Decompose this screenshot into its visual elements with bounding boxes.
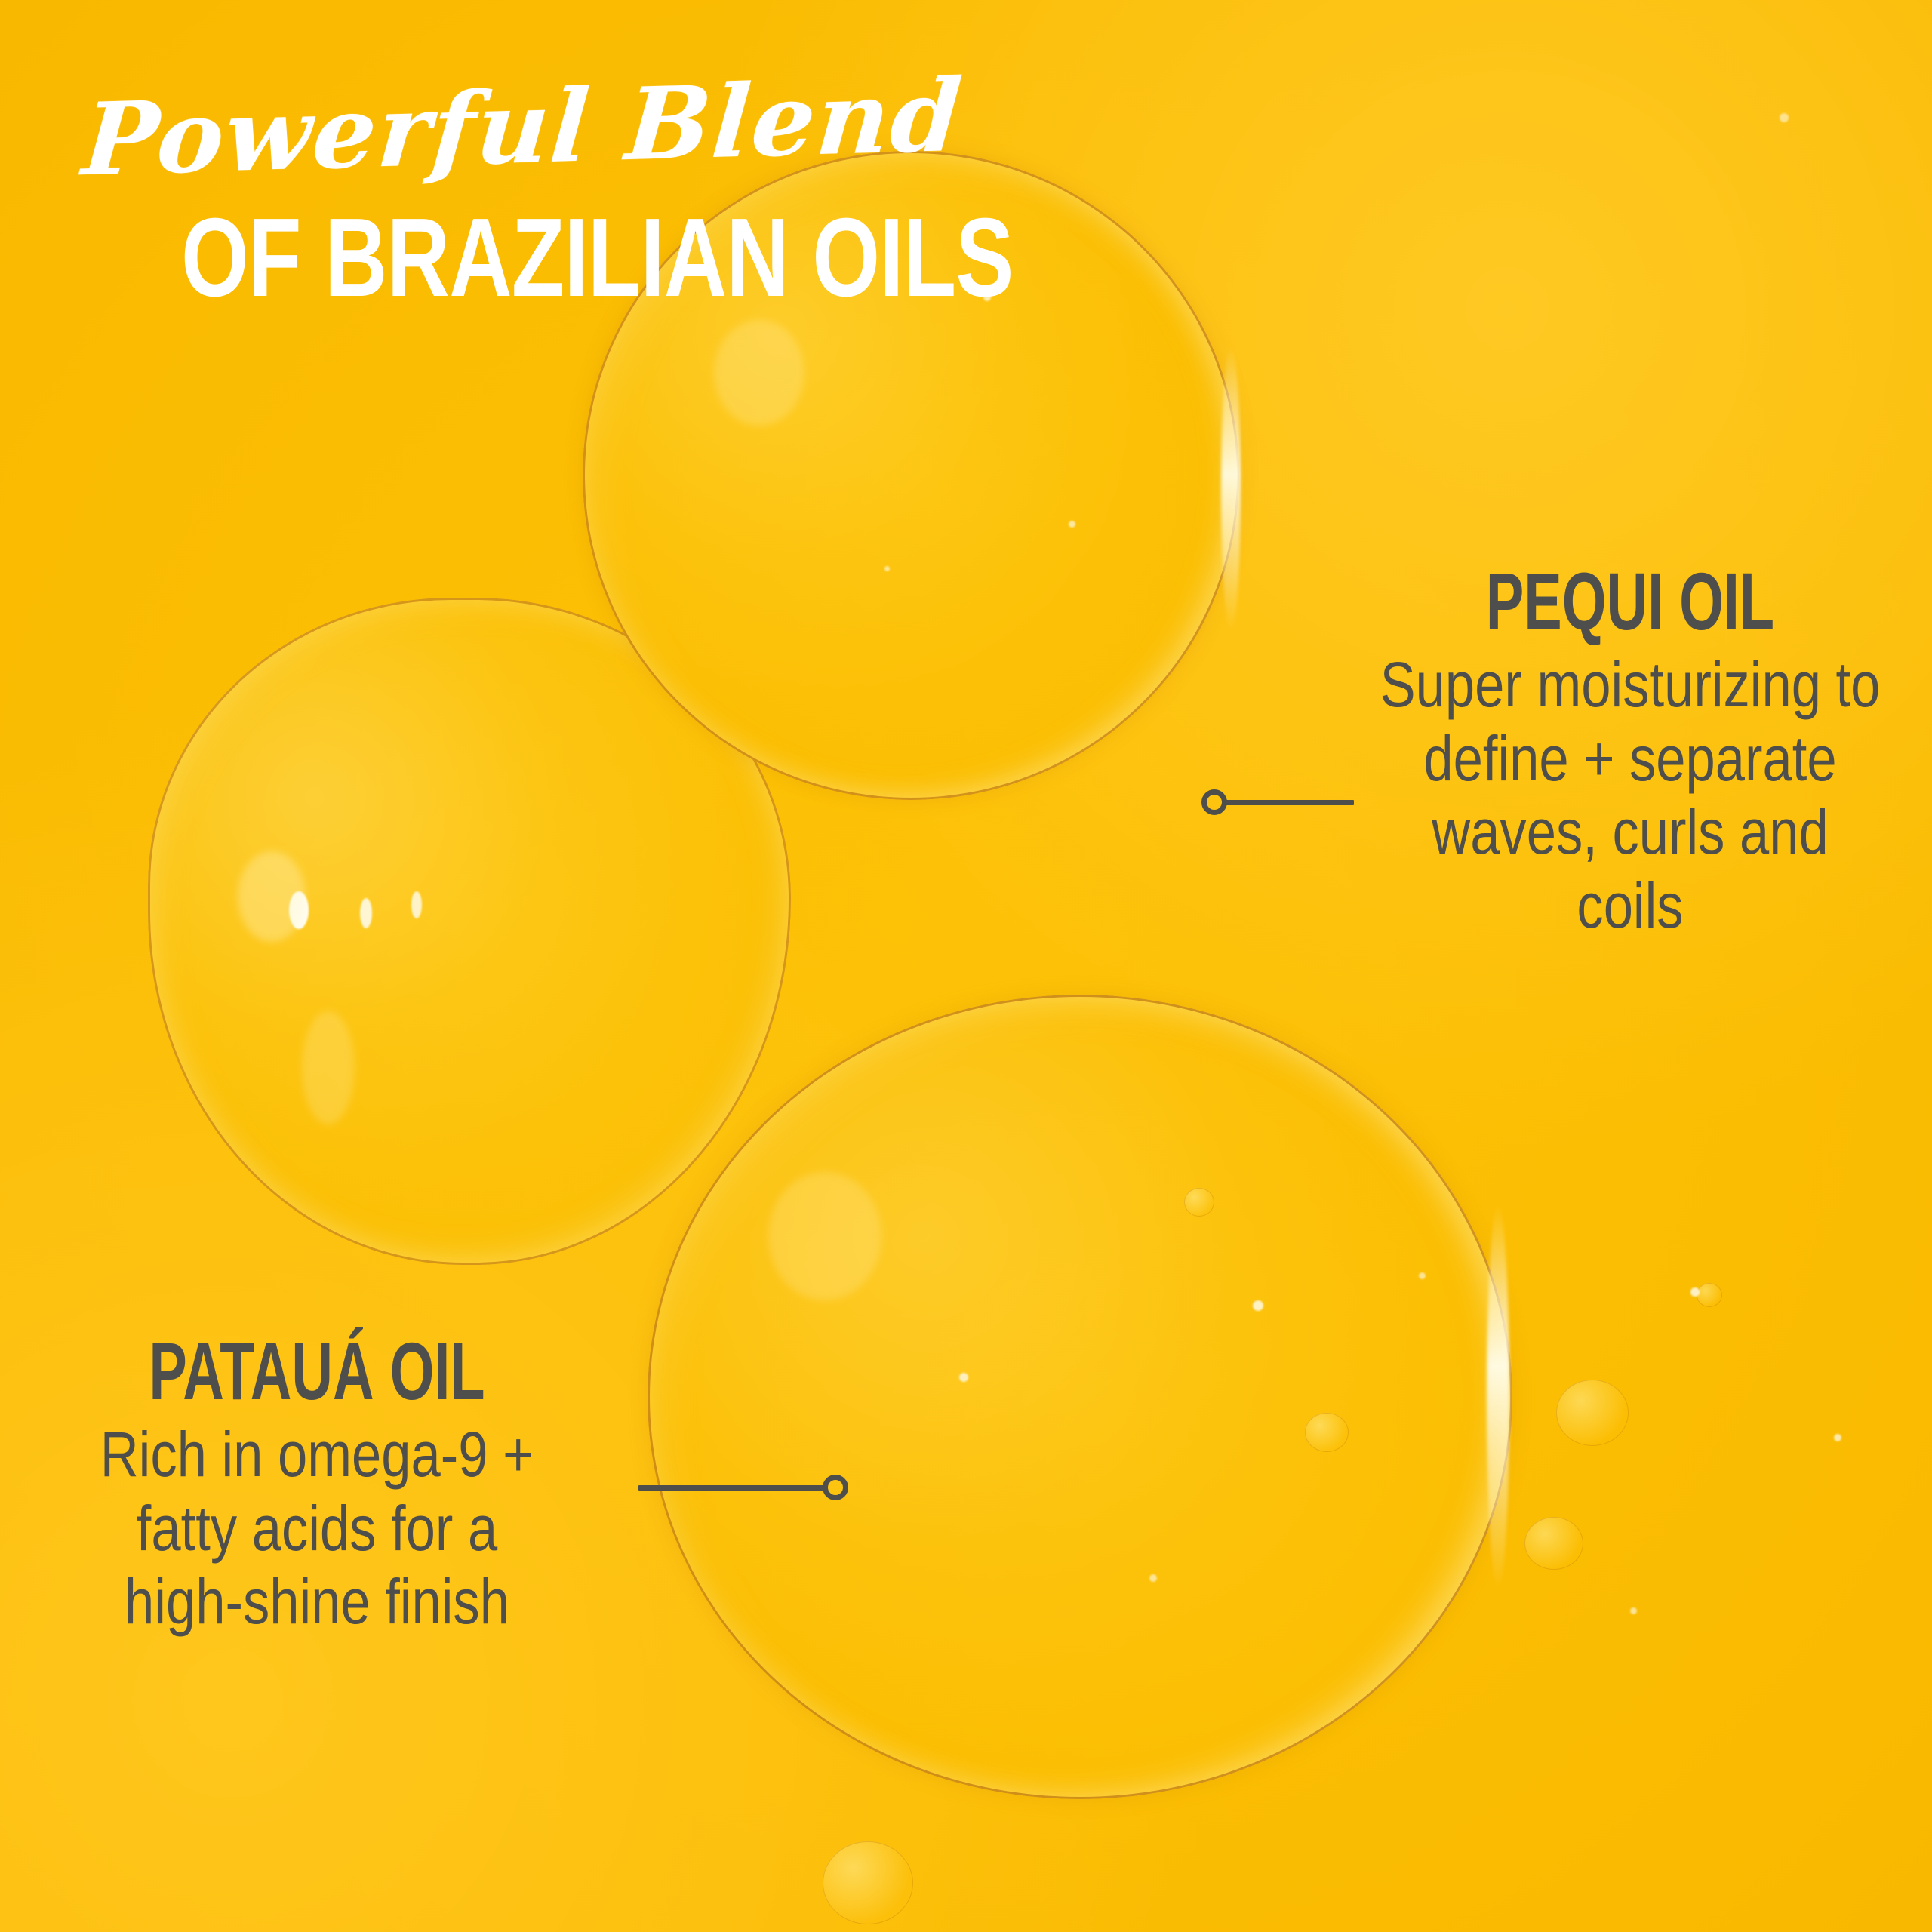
highlight-speck — [360, 898, 372, 928]
highlight-speck — [1419, 1272, 1426, 1279]
highlight-speck — [1780, 113, 1789, 122]
micro-droplet — [1524, 1517, 1583, 1570]
callout-pequi: PEQUI OIL Super moisturizing to define +… — [1328, 558, 1932, 943]
highlight-glow — [714, 320, 804, 426]
leader-line-pequi — [1201, 789, 1352, 817]
highlight-speck — [1253, 1300, 1263, 1311]
headline-script-line: Powerful Blend — [79, 57, 968, 198]
highlight-speck — [884, 566, 890, 571]
highlight-speck — [411, 891, 422, 918]
highlight-glow — [768, 1172, 881, 1300]
leader-line-pataua — [638, 1475, 848, 1502]
headline-main-line: OF BRAZILIAN OILS — [181, 202, 1014, 314]
highlight-speck — [1690, 1287, 1700, 1297]
highlight-glow — [238, 851, 306, 942]
micro-droplet — [1305, 1413, 1349, 1452]
oil-droplet-bottom — [648, 995, 1512, 1799]
micro-droplet — [1184, 1188, 1214, 1217]
callout-pequi-body: Super moisturizing to define + separate … — [1377, 648, 1884, 943]
callout-pataua: PATAUÁ OIL Rich in omega-9 + fatty acids… — [30, 1328, 604, 1639]
callout-pataua-title: PATAUÁ OIL — [116, 1328, 518, 1414]
rim-highlight — [1221, 346, 1241, 631]
leader-bar — [638, 1485, 827, 1491]
micro-droplet — [823, 1841, 913, 1924]
highlight-speck — [1069, 521, 1075, 528]
callout-pequi-title: PEQUI OIL — [1419, 558, 1841, 644]
infographic-canvas: Powerful Blend OF BRAZILIAN OILS PEQUI O… — [0, 0, 1932, 1932]
highlight-glow — [302, 1011, 355, 1124]
highlight-speck — [1834, 1434, 1841, 1441]
rim-highlight — [1487, 1204, 1509, 1590]
micro-droplet — [1556, 1380, 1629, 1446]
highlight-speck — [1630, 1607, 1637, 1614]
leader-circle-icon — [823, 1475, 848, 1500]
leader-bar — [1224, 800, 1354, 805]
highlight-speck — [1149, 1574, 1157, 1582]
highlight-speck — [959, 1373, 968, 1382]
leader-circle-icon — [1201, 789, 1227, 815]
micro-droplet — [1697, 1283, 1722, 1307]
callout-pataua-body: Rich in omega-9 + fatty acids for a high… — [76, 1418, 558, 1638]
